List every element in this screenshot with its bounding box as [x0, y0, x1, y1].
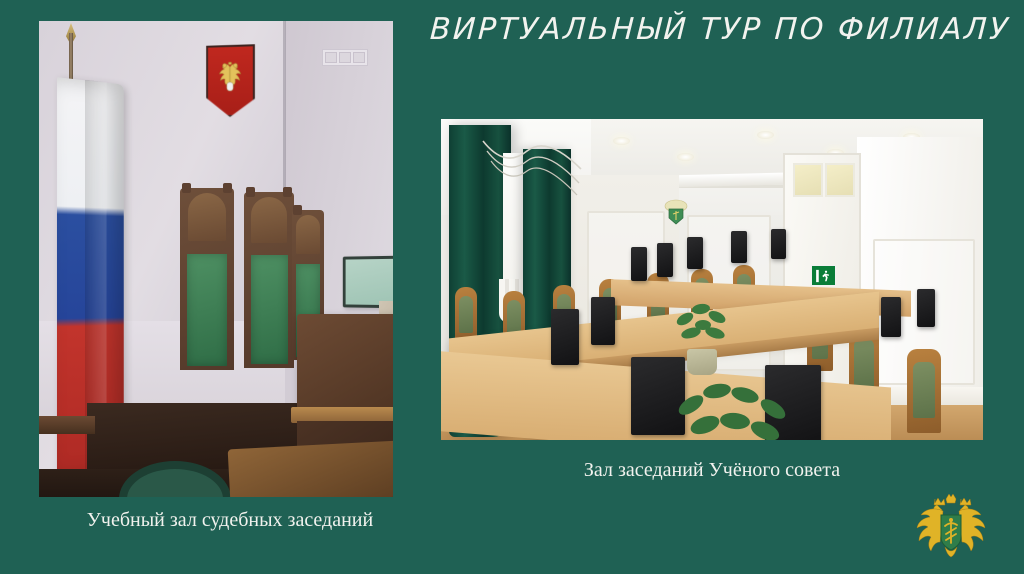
door-glass-pane [825, 163, 855, 197]
monitor-icon [881, 297, 901, 337]
monitor-icon [771, 229, 786, 259]
potted-plant-icon [673, 371, 793, 440]
monitor-icon [917, 289, 935, 327]
slide-root: ВИРТУАЛЬНЫЙ ТУР ПО ФИЛИАЛУ [0, 0, 1024, 574]
wall-emblem-icon [663, 197, 689, 227]
double-headed-eagle-icon [216, 60, 245, 96]
recessed-light-icon [677, 153, 694, 161]
curtain-swag-chain-icon [479, 135, 587, 205]
exit-sign-icon [811, 265, 836, 286]
monitor-icon [687, 237, 703, 269]
monitor-icon [551, 309, 579, 365]
recessed-light-icon [757, 131, 774, 139]
door-glass-pane [793, 163, 823, 197]
academy-logo-icon [915, 493, 987, 563]
foreground-desk [228, 441, 393, 497]
ventilation-grille-icon [322, 49, 368, 66]
judge-chair [180, 188, 234, 370]
judge-bench [297, 314, 393, 410]
photo-council-hall [441, 119, 983, 440]
courtroom-rail [39, 416, 95, 434]
monitor-icon [657, 243, 673, 277]
recessed-light-icon [613, 137, 630, 145]
monitor-icon [631, 247, 647, 281]
caption-courtroom: Учебный зал судебных заседаний [20, 509, 440, 532]
judge-chair [244, 192, 294, 368]
council-chair [907, 349, 941, 433]
monitor-icon [591, 297, 615, 345]
caption-council-hall: Зал заседаний Учёного совета [441, 459, 983, 482]
potted-plant-icon [671, 295, 737, 366]
monitor-icon [731, 231, 747, 263]
photo-courtroom [39, 21, 393, 497]
running-man-glyph [815, 269, 833, 283]
page-title: ВИРТУАЛЬНЫЙ ТУР ПО ФИЛИАЛУ [419, 12, 1021, 47]
